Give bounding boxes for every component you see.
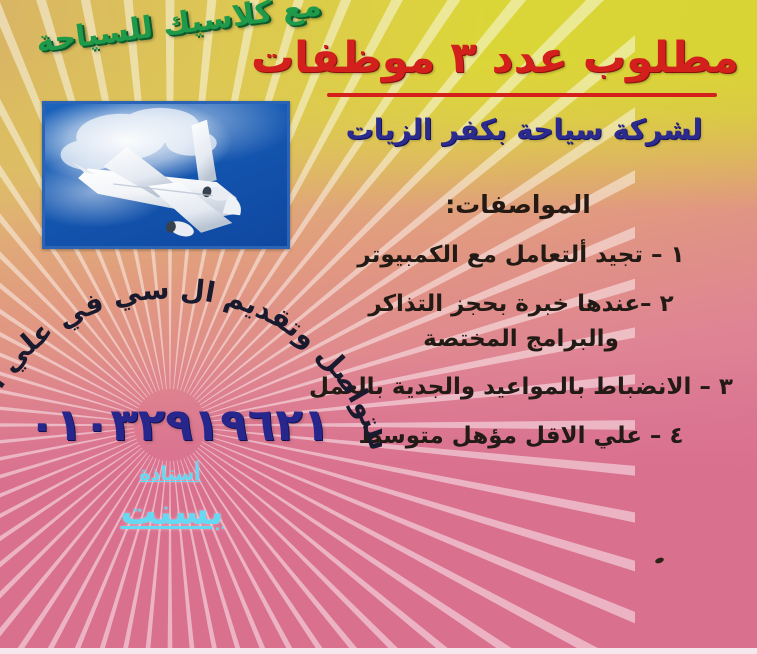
list-item: ٢ –عندها خبرة بحجز التذاكر (301, 291, 741, 318)
headline-underline (327, 93, 717, 97)
airplane-icon (45, 104, 287, 248)
list-item-continuation: والبرامج المختصة (301, 326, 741, 352)
signature-title: أستاذة (110, 463, 230, 485)
requirements-list: ١ – تجيد ألتعامل مع الكمبيوتر ٢ –عندها خ… (301, 242, 741, 473)
list-item: ١ – تجيد ألتعامل مع الكمبيوتر (301, 242, 741, 269)
phone-number[interactable]: ٠١٠٣٢٩١٩٦٢١ (14, 398, 344, 451)
airplane-photo (42, 101, 290, 249)
list-item: ٤ – علي الاقل مؤهل متوسط (301, 423, 741, 450)
bottom-white-strip (0, 648, 757, 654)
job-advertisement-poster: مع كلاسيك للسياحة (0, 0, 757, 654)
specs-label: المواصفات: (303, 190, 733, 219)
page-subtitle: لشركة سياحة بكفر الزيات (309, 113, 739, 146)
list-item: ٣ – الانضباط بالمواعيد والجدية بالعمل (301, 374, 741, 401)
signature-name: بسنت (92, 492, 252, 533)
page-title: مطلوب عدد ٣ موظفات (309, 36, 739, 81)
